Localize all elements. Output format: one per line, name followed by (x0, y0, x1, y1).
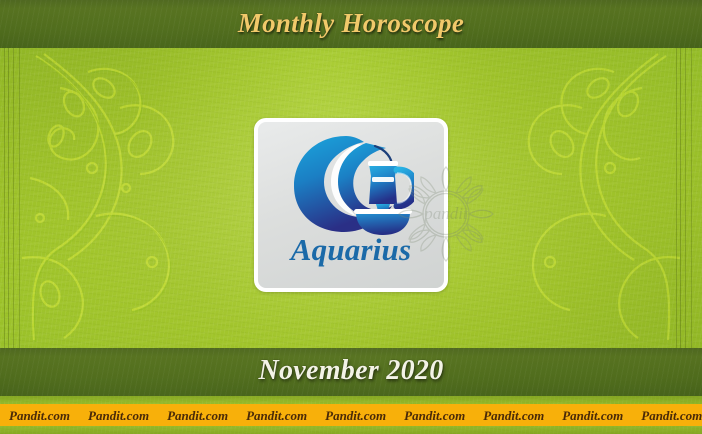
floral-scroll-ornament-icon (0, 48, 210, 348)
watermark-text: Pandit.com (158, 409, 237, 422)
watermark-text: Pandit.com (237, 409, 316, 422)
floral-scroll-ornament-icon-right (492, 48, 702, 348)
header-band: Monthly Horoscope (0, 0, 702, 48)
watermark-text: Pandit.com (79, 409, 158, 422)
right-border-stripes (674, 48, 700, 350)
watermark-text: Pandit.com (316, 409, 395, 422)
month-year-label: November 2020 (0, 357, 702, 385)
zodiac-card: Aquarius (254, 118, 448, 292)
watermark-text: Pandit.com (474, 409, 553, 422)
watermark-strip: Pandit.comPandit.comPandit.comPandit.com… (0, 404, 702, 426)
watermark-text: Pandit.com (395, 409, 474, 422)
strip-shade-bottom (0, 426, 702, 434)
watermark-text: Pandit.com (553, 409, 632, 422)
zodiac-name-label: Aquarius (258, 234, 444, 265)
aquarius-water-bearer-icon (286, 132, 414, 236)
left-border-stripes (2, 48, 28, 350)
watermark-text: Pandit.com (0, 409, 79, 422)
strip-shade-top (0, 396, 702, 404)
watermark-text: Pandit.com (632, 409, 702, 422)
footer-band: November 2020 (0, 348, 702, 396)
monthly-horoscope-banner: Monthly Horoscope (0, 0, 702, 434)
page-title: Monthly Horoscope (0, 10, 702, 37)
